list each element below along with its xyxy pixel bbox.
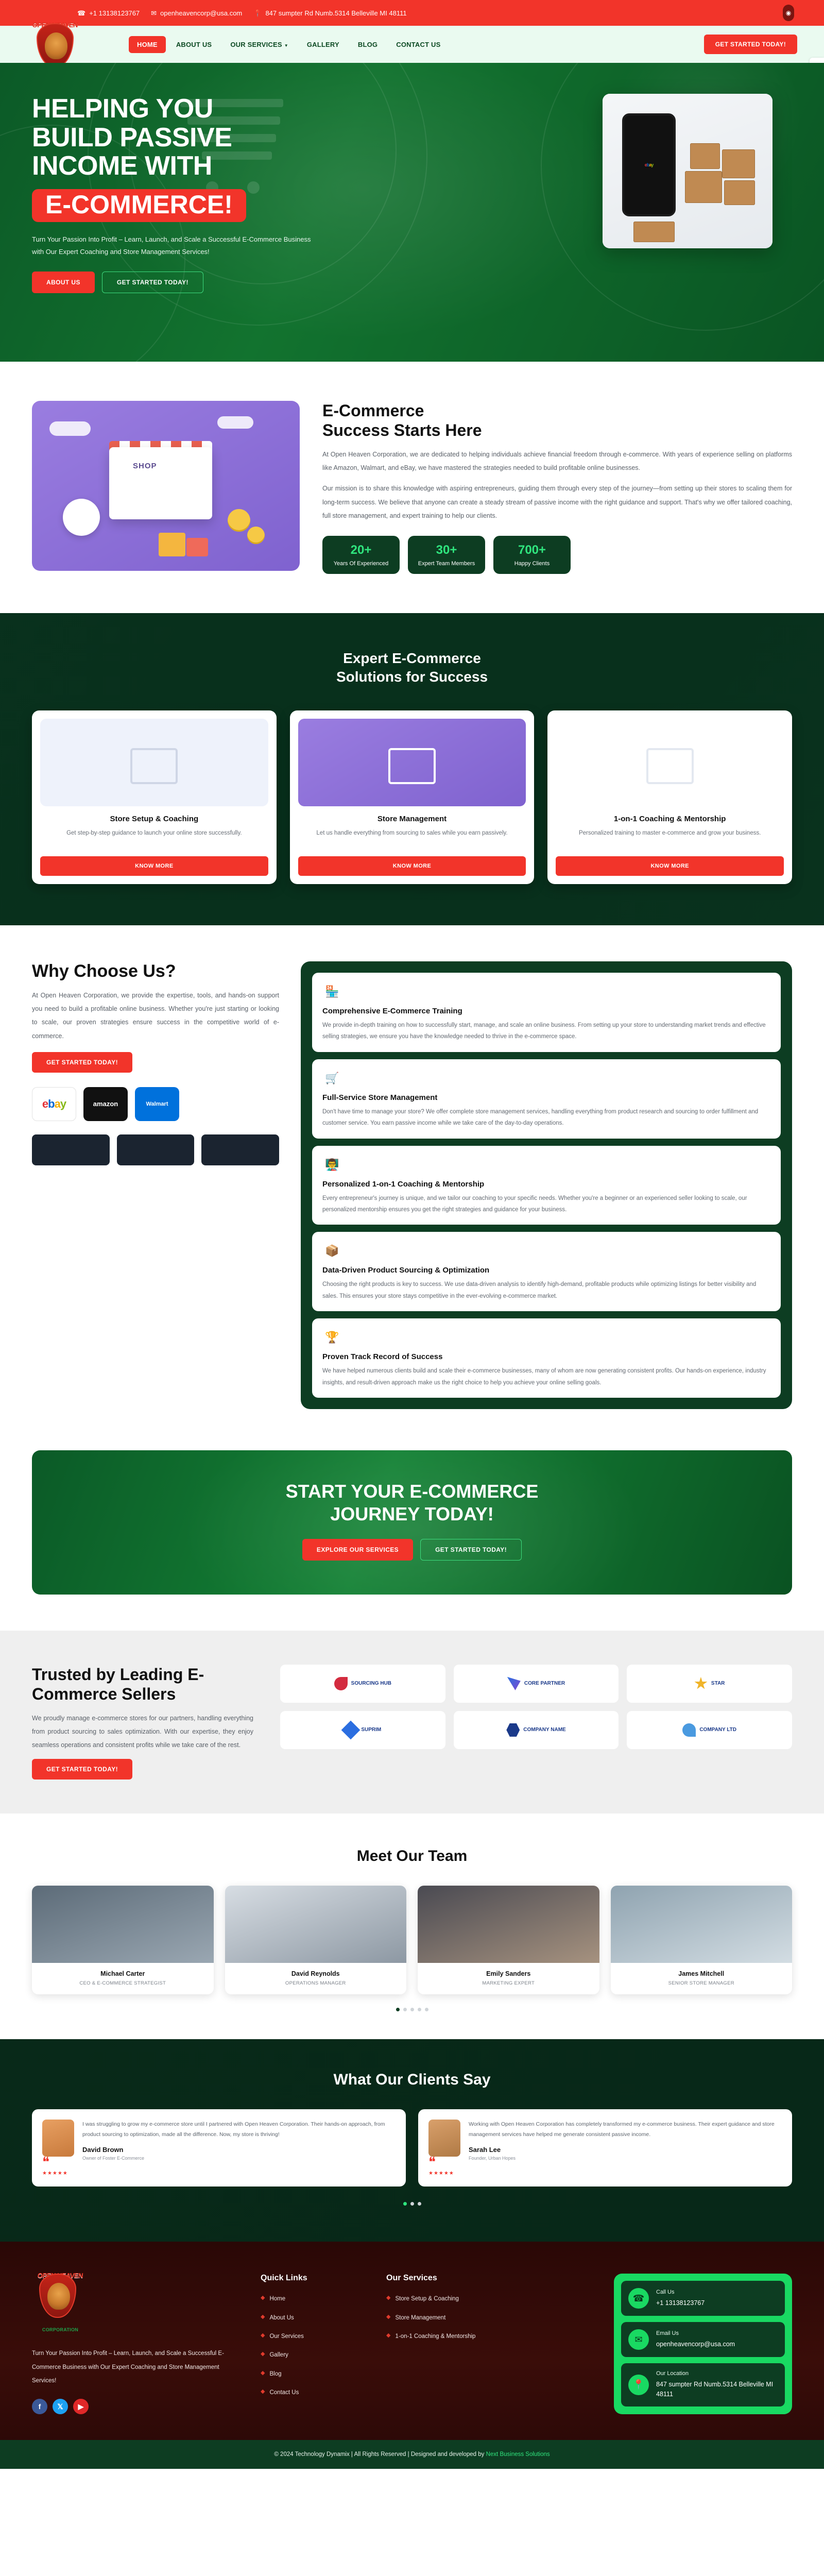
- testimonials-grid: ❝ ★★★★★ I was struggling to grow my e-co…: [32, 2109, 792, 2187]
- footer-services-title: Our Services: [386, 2274, 489, 2283]
- testimonial-carousel-dots[interactable]: [32, 2202, 792, 2206]
- team-name: Michael Carter: [32, 1970, 214, 1977]
- service-title: Store Setup & Coaching: [40, 815, 268, 823]
- top-address-text: 847 sumpter Rd Numb.5314 Belleville MI 4…: [265, 9, 406, 17]
- top-email-text: openheavencorp@usa.com: [160, 9, 242, 17]
- lion-shield-icon: [37, 23, 74, 67]
- contact-value: openheavencorp@usa.com: [656, 2340, 735, 2349]
- top-email[interactable]: ✉ openheavencorp@usa.com: [151, 9, 242, 17]
- why-features-panel: 🏪 Comprehensive E-Commerce Training We p…: [301, 961, 792, 1409]
- feature-title: Data-Driven Product Sourcing & Optimizat…: [322, 1266, 770, 1275]
- avatar: [428, 2120, 460, 2157]
- brand-name: COMPANY NAME: [523, 1727, 565, 1733]
- team-role: MARKETING EXPERT: [418, 1980, 599, 1986]
- hero-line-3: INCOME WITH: [32, 151, 212, 181]
- nav-item-services[interactable]: OUR SERVICES▼: [222, 36, 297, 53]
- hero-scene: ebay: [603, 94, 772, 248]
- nav-item-gallery[interactable]: GALLERY: [299, 36, 348, 53]
- copyright-text: © 2024 Technology Dynamix | All Rights R…: [274, 2451, 484, 2458]
- contact-location-box[interactable]: 📍 Our Location 847 sumpter Rd Numb.5314 …: [621, 2363, 785, 2406]
- package-icon: 📦: [322, 1241, 342, 1261]
- about-row: SHOP E-CommerceSuccess Starts Here At Op…: [0, 401, 824, 574]
- hero-get-started-button[interactable]: GET STARTED TODAY!: [102, 272, 203, 293]
- instagram-icon[interactable]: ◉: [783, 5, 794, 21]
- hero-heading: HELPING YOU BUILD PASSIVE INCOME WITH: [32, 95, 375, 181]
- feature-card: 📦 Data-Driven Product Sourcing & Optimiz…: [312, 1232, 781, 1311]
- team-name: David Reynolds: [225, 1970, 407, 1977]
- trophy-icon: 🏆: [322, 1328, 342, 1347]
- brand-tile: SOURCING HUB: [280, 1665, 445, 1703]
- presentation-icon: 👨‍🏫: [322, 1155, 342, 1175]
- cta-section: START YOUR E-COMMERCEJOURNEY TODAY! EXPL…: [0, 1440, 824, 1631]
- wave-logo-icon: [682, 1723, 696, 1737]
- developer-link[interactable]: Next Business Solutions: [486, 2451, 550, 2458]
- storefront-icon: 🏪: [322, 982, 342, 1002]
- hero-section: HELPING YOU BUILD PASSIVE INCOME WITH E-…: [0, 63, 824, 362]
- carousel-dot[interactable]: [403, 2008, 407, 2011]
- feature-card: 👨‍🏫 Personalized 1-on-1 Coaching & Mento…: [312, 1146, 781, 1225]
- stat-label: Years Of Experienced: [327, 561, 396, 567]
- ebay-logo: ebay: [645, 162, 654, 167]
- about-stats: 20+ Years Of Experienced 30+ Expert Team…: [322, 536, 792, 574]
- gift-box-icon: [186, 538, 208, 556]
- bullet-icon: ◆: [386, 2332, 390, 2340]
- cta-heading: START YOUR E-COMMERCEJOURNEY TODAY!: [42, 1480, 782, 1526]
- brand-tile: COMPANY LTD: [627, 1711, 792, 1749]
- bullet-icon: ◆: [261, 2350, 265, 2358]
- stat-label: Expert Team Members: [412, 561, 481, 567]
- trusted-section: Trusted by Leading E-Commerce Sellers We…: [0, 1631, 824, 1814]
- testimonial-name: David Brown: [82, 2146, 396, 2154]
- service-desc: Let us handle everything from sourcing t…: [298, 828, 526, 849]
- team-carousel-dots[interactable]: [32, 2008, 792, 2011]
- walmart-logo-text: Walmart: [146, 1101, 168, 1107]
- team-section: Meet Our Team Michael Carter CEO & E-COM…: [0, 1814, 824, 2039]
- feature-desc: We provide in-depth training on how to s…: [322, 1020, 770, 1043]
- testimonial-card: ❝ ★★★★★ I was struggling to grow my e-co…: [32, 2109, 406, 2187]
- bullet-icon: ◆: [261, 2294, 265, 2302]
- bullet-icon: ◆: [386, 2313, 390, 2321]
- cta-explore-button[interactable]: EXPLORE OUR SERVICES: [302, 1539, 413, 1561]
- shopping-cart-icon: [388, 748, 436, 784]
- stat-label: Happy Clients: [497, 561, 566, 567]
- testimonial-quote: I was struggling to grow my e-commerce s…: [82, 2120, 396, 2140]
- feature-title: Proven Track Record of Success: [322, 1352, 770, 1361]
- coin-icon: [247, 527, 265, 544]
- avatar: [42, 2120, 74, 2157]
- phone-icon: ☎: [628, 2288, 649, 2309]
- nav-item-blog[interactable]: BLOG: [350, 36, 386, 53]
- hero-buttons: ABOUT US GET STARTED TODAY!: [32, 272, 375, 293]
- why-get-started-button[interactable]: GET STARTED TODAY!: [32, 1052, 132, 1073]
- feature-card: 🛒 Full-Service Store Management Don't ha…: [312, 1059, 781, 1139]
- footer-services: Our Services ◆Store Setup & Coaching ◆St…: [386, 2274, 489, 2414]
- team-card[interactable]: Michael Carter CEO & E-COMMERCE STRATEGI…: [32, 1886, 214, 1994]
- about-paragraph-1: At Open Heaven Corporation, we are dedic…: [322, 448, 792, 475]
- hero-subtitle: Turn Your Passion Into Profit – Learn, L…: [32, 233, 320, 258]
- why-desc: At Open Heaven Corporation, we provide t…: [32, 989, 279, 1043]
- service-know-more-button[interactable]: KNOW MORE: [40, 856, 268, 876]
- testimonials-title: What Our Clients Say: [32, 2071, 792, 2089]
- cta-get-started-button[interactable]: GET STARTED TODAY!: [420, 1539, 522, 1561]
- about-paragraph-2: Our mission is to share this knowledge w…: [322, 482, 792, 522]
- location-pin-icon: 📍: [253, 10, 262, 16]
- phone-mockup: ebay: [622, 113, 676, 216]
- team-name: James Mitchell: [611, 1970, 793, 1977]
- contact-email-box[interactable]: ✉ Email Us openheavencorp@usa.com: [621, 2322, 785, 2357]
- top-contact-items: ☎ +1 13138123767 ✉ openheavencorp@usa.co…: [77, 9, 407, 17]
- contact-label: Call Us: [656, 2289, 705, 2295]
- carousel-dot[interactable]: [418, 2008, 421, 2011]
- about-section: SHOP E-CommerceSuccess Starts Here At Op…: [0, 362, 824, 613]
- testimonial-body: Working with Open Heaven Corporation has…: [469, 2120, 782, 2176]
- why-thumb: [201, 1134, 279, 1165]
- stat-card: 30+ Expert Team Members: [408, 536, 485, 574]
- team-photo: [225, 1886, 407, 1963]
- location-icon: 📍: [628, 2375, 649, 2395]
- feature-title: Full-Service Store Management: [322, 1093, 770, 1102]
- why-left-column: Why Choose Us? At Open Heaven Corporatio…: [32, 961, 279, 1409]
- nav-item-home[interactable]: HOME: [129, 36, 166, 53]
- testimonial-name: Sarah Lee: [469, 2146, 782, 2154]
- team-photo: [418, 1886, 599, 1963]
- team-card[interactable]: Emily Sanders MARKETING EXPERT: [418, 1886, 599, 1994]
- hex-logo-icon: [506, 1723, 520, 1737]
- twitter-icon[interactable]: 𝕏: [53, 2399, 68, 2414]
- feature-desc: Every entrepreneur's journey is unique, …: [322, 1193, 770, 1216]
- carousel-dot[interactable]: [425, 2008, 428, 2011]
- chevron-down-icon: ▼: [284, 43, 288, 48]
- bullet-icon: ◆: [261, 2332, 265, 2340]
- testimonial-card: ❝ ★★★★★ Working with Open Heaven Corpora…: [418, 2109, 792, 2187]
- parcel-box: [722, 149, 755, 178]
- service-card[interactable]: Store Management Let us handle everythin…: [290, 710, 535, 884]
- service-card[interactable]: 1-on-1 Coaching & Mentorship Personalize…: [547, 710, 792, 884]
- rating-stars: ★★★★★: [428, 2171, 460, 2176]
- hero-line-2: BUILD PASSIVE: [32, 123, 232, 152]
- bullet-icon: ◆: [261, 2388, 265, 2396]
- team-name: Emily Sanders: [418, 1970, 599, 1977]
- stat-value: 700+: [497, 543, 566, 557]
- parcel-box: [685, 171, 722, 203]
- why-choose-us-section: Why Choose Us? At Open Heaven Corporatio…: [0, 925, 824, 1440]
- footer-service-coaching[interactable]: ◆1-on-1 Coaching & Mentorship: [386, 2332, 489, 2341]
- feature-card: 🏪 Comprehensive E-Commerce Training We p…: [312, 973, 781, 1052]
- why-thumb: [117, 1134, 195, 1165]
- nav-get-started-button[interactable]: GET STARTED TODAY!: [704, 35, 797, 54]
- solutions-title: Expert E-CommerceSolutions for Success: [0, 649, 824, 687]
- footer-brand-column: OPEN HEAVEN CORPORATION Turn Your Passio…: [32, 2274, 238, 2414]
- brand-name: SOURCING HUB: [351, 1681, 391, 1686]
- about-text: E-CommerceSuccess Starts Here At Open He…: [322, 401, 792, 574]
- ebay-logo-tile: ebay: [32, 1087, 76, 1121]
- carousel-dot[interactable]: [410, 2008, 414, 2011]
- about-illustration: SHOP: [32, 401, 300, 571]
- feature-title: Comprehensive E-Commerce Training: [322, 1007, 770, 1015]
- footer-service-setup[interactable]: ◆Store Setup & Coaching: [386, 2294, 489, 2303]
- page-root: ☎ +1 13138123767 ✉ openheavencorp@usa.co…: [0, 0, 824, 2469]
- service-desc: Personalized training to master e-commer…: [556, 828, 784, 849]
- hero-line-1: HELPING YOU: [32, 94, 213, 124]
- brand-name: COMPANY LTD: [699, 1727, 736, 1733]
- hero-content: HELPING YOU BUILD PASSIVE INCOME WITH E-…: [0, 63, 402, 293]
- service-card[interactable]: Store Setup & Coaching Get step-by-step …: [32, 710, 277, 884]
- stat-card: 700+ Happy Clients: [493, 536, 571, 574]
- why-thumb: [32, 1134, 110, 1165]
- shop-front-icon: [109, 447, 212, 519]
- parcel-box: [724, 180, 755, 205]
- quote-icon: ❝: [428, 2157, 460, 2167]
- top-address[interactable]: 📍 847 sumpter Rd Numb.5314 Belleville MI…: [253, 9, 406, 17]
- footer-contact-panel: ☎ Call Us +1 13138123767 ✉ Email Us open…: [614, 2274, 792, 2414]
- marketplace-logos: ebay amazon Walmart: [32, 1087, 279, 1121]
- why-thumbnails: [32, 1134, 279, 1165]
- footer-link-about[interactable]: ◆About Us: [261, 2313, 364, 2323]
- hero-badge: E-COMMERCE!: [32, 189, 246, 223]
- team-role: SENIOR STORE MANAGER: [611, 1980, 793, 1986]
- footer-socials: f 𝕏 ▶: [32, 2399, 238, 2414]
- phone-icon: ☎: [77, 10, 85, 16]
- about-title: E-CommerceSuccess Starts Here: [322, 401, 792, 440]
- parcel-box: [690, 143, 720, 169]
- contact-label: Our Location: [656, 2370, 778, 2377]
- youtube-icon[interactable]: ▶: [73, 2399, 89, 2414]
- team-role: CEO & E-COMMERCE STRATEGIST: [32, 1980, 214, 1986]
- cta-buttons: EXPLORE OUR SERVICES GET STARTED TODAY!: [42, 1539, 782, 1561]
- nav-item-about[interactable]: ABOUT US: [168, 36, 220, 53]
- team-card[interactable]: David Reynolds OPERATIONS MANAGER: [225, 1886, 407, 1994]
- lion-shield-icon: [39, 2274, 76, 2318]
- brand-tile: CORE PARTNER: [454, 1665, 619, 1703]
- contact-label: Email Us: [656, 2330, 735, 2336]
- feature-card: 🏆 Proven Track Record of Success We have…: [312, 1318, 781, 1398]
- footer-link-services[interactable]: ◆Our Services: [261, 2332, 364, 2341]
- copyright-bar: © 2024 Technology Dynamix | All Rights R…: [0, 2440, 824, 2469]
- service-desc: Get step-by-step guidance to launch your…: [40, 828, 268, 849]
- main-navbar: OPEN HEAVEN CORPORATION HOME ABOUT US OU…: [0, 26, 824, 63]
- bullet-icon: ◆: [386, 2294, 390, 2302]
- quote-icon: ❝: [42, 2157, 74, 2167]
- footer-quick-links-title: Quick Links: [261, 2274, 364, 2283]
- stat-card: 20+ Years Of Experienced: [322, 536, 400, 574]
- service-image: [40, 719, 268, 806]
- top-phone-text: +1 13138123767: [89, 9, 140, 17]
- coin-icon: [228, 509, 250, 532]
- trusted-left: Trusted by Leading E-Commerce Sellers We…: [32, 1665, 253, 1780]
- top-contact-bar: ☎ +1 13138123767 ✉ openheavencorp@usa.co…: [0, 0, 824, 26]
- amazon-logo-text: amazon: [93, 1100, 118, 1108]
- prism-logo-icon: [507, 1677, 521, 1690]
- testimonial-body: I was struggling to grow my e-commerce s…: [82, 2120, 396, 2176]
- feature-title: Personalized 1-on-1 Coaching & Mentorshi…: [322, 1180, 770, 1189]
- trusted-title: Trusted by Leading E-Commerce Sellers: [32, 1665, 253, 1704]
- brand-name: CORE PARTNER: [524, 1681, 565, 1686]
- clock-icon: [63, 499, 100, 536]
- rating-stars: ★★★★★: [42, 2171, 74, 2176]
- presentation-board-icon: [646, 748, 694, 784]
- shop-sign-label: SHOP: [133, 462, 157, 470]
- solutions-section: Expert E-CommerceSolutions for Success S…: [0, 613, 824, 925]
- team-photo: [611, 1886, 793, 1963]
- service-image: [298, 719, 526, 806]
- brand-logo-grid: SOURCING HUB CORE PARTNER STAR SUPRIM CO…: [280, 1665, 792, 1749]
- stat-value: 30+: [412, 543, 481, 557]
- brand-tile: STAR: [627, 1665, 792, 1703]
- carousel-dot[interactable]: [396, 2008, 400, 2011]
- site-footer: OPEN HEAVEN CORPORATION Turn Your Passio…: [0, 2242, 824, 2440]
- trusted-desc: We proudly manage e-commerce stores for …: [32, 1711, 253, 1752]
- hero-about-button[interactable]: ABOUT US: [32, 272, 95, 293]
- service-title: 1-on-1 Coaching & Mentorship: [556, 815, 784, 823]
- team-role: OPERATIONS MANAGER: [225, 1980, 407, 1986]
- carousel-dot[interactable]: [410, 2202, 414, 2206]
- hero-image-card: ebay: [603, 94, 772, 248]
- top-phone[interactable]: ☎ +1 13138123767: [77, 9, 140, 17]
- testimonial-role: Owner of Foster E-Commerce: [82, 2156, 396, 2161]
- footer-about: Turn Your Passion Into Profit – Learn, L…: [32, 2347, 238, 2387]
- team-title: Meet Our Team: [32, 1848, 792, 1865]
- testimonials-section: What Our Clients Say ❝ ★★★★★ I was strug…: [0, 2039, 824, 2242]
- amazon-logo-tile: amazon: [83, 1087, 128, 1121]
- walmart-logo-tile: Walmart: [135, 1087, 179, 1121]
- contact-value: 847 sumpter Rd Numb.5314 Belleville MI 4…: [656, 2380, 778, 2399]
- shop-cart-icon: 🛒: [322, 1069, 342, 1088]
- stat-value: 20+: [327, 543, 396, 557]
- brand-name: SUPRIM: [361, 1727, 381, 1733]
- trusted-get-started-button[interactable]: GET STARTED TODAY!: [32, 1759, 132, 1780]
- footer-logo-sub: CORPORATION: [32, 2327, 89, 2332]
- footer-link-gallery[interactable]: ◆Gallery: [261, 2350, 364, 2360]
- shopping-cart-icon: [130, 748, 178, 784]
- contact-value: +1 13138123767: [656, 2298, 705, 2308]
- contact-call-box[interactable]: ☎ Call Us +1 13138123767: [621, 2281, 785, 2316]
- footer-link-contact[interactable]: ◆Contact Us: [261, 2388, 364, 2397]
- feature-desc: We have helped numerous clients build an…: [322, 1365, 770, 1388]
- team-grid: Michael Carter CEO & E-COMMERCE STRATEGI…: [32, 1886, 792, 1994]
- service-know-more-button[interactable]: KNOW MORE: [556, 856, 784, 876]
- parcel-box: [633, 222, 675, 242]
- team-photo: [32, 1886, 214, 1963]
- team-card[interactable]: James Mitchell SENIOR STORE MANAGER: [611, 1886, 793, 1994]
- why-title: Why Choose Us?: [32, 961, 279, 981]
- diamond-logo-icon: [341, 1720, 360, 1739]
- swirl-logo-icon: [334, 1677, 348, 1690]
- service-know-more-button[interactable]: KNOW MORE: [298, 856, 526, 876]
- brand-tile: COMPANY NAME: [454, 1711, 619, 1749]
- cta-banner: START YOUR E-COMMERCEJOURNEY TODAY! EXPL…: [32, 1450, 792, 1595]
- feature-desc: Choosing the right products is key to su…: [322, 1279, 770, 1302]
- nav-item-contact[interactable]: CONTACT US: [388, 36, 449, 53]
- footer-service-management[interactable]: ◆Store Management: [386, 2313, 489, 2323]
- footer-link-blog[interactable]: ◆Blog: [261, 2369, 364, 2379]
- brand-tile: SUPRIM: [280, 1711, 445, 1749]
- carousel-dot[interactable]: [418, 2202, 421, 2206]
- service-title: Store Management: [298, 815, 526, 823]
- brand-name: STAR: [711, 1681, 725, 1686]
- footer-logo[interactable]: OPEN HEAVEN CORPORATION: [32, 2274, 83, 2335]
- footer-link-home[interactable]: ◆Home: [261, 2294, 364, 2303]
- gift-box-icon: [159, 533, 185, 556]
- bullet-icon: ◆: [261, 2313, 265, 2321]
- carousel-dot[interactable]: [403, 2202, 407, 2206]
- footer-quick-links: Quick Links ◆Home ◆About Us ◆Our Service…: [261, 2274, 364, 2414]
- solutions-cards: Store Setup & Coaching Get step-by-step …: [0, 710, 824, 884]
- service-image: [556, 719, 784, 806]
- testimonial-role: Founder, Urban Hopes: [469, 2156, 782, 2161]
- star-logo-icon: [694, 1677, 708, 1690]
- nav-menu: HOME ABOUT US OUR SERVICES▼ GALLERY BLOG…: [129, 36, 449, 53]
- testimonial-quote: Working with Open Heaven Corporation has…: [469, 2120, 782, 2140]
- facebook-icon[interactable]: f: [32, 2399, 47, 2414]
- mail-icon: ✉: [628, 2329, 649, 2350]
- feature-desc: Don't have time to manage your store? We…: [322, 1106, 770, 1129]
- bullet-icon: ◆: [261, 2369, 265, 2377]
- envelope-icon: ✉: [151, 10, 157, 16]
